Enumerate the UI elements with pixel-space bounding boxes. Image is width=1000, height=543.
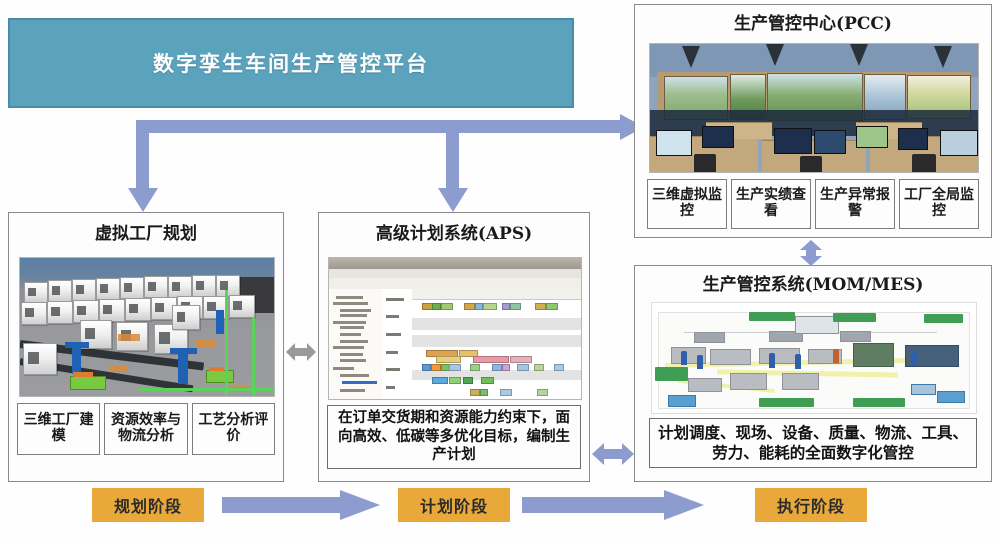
bus-stem-aps xyxy=(446,120,459,190)
subitem-process-analysis-evaluation[interactable]: 工艺分析评价 xyxy=(192,403,275,455)
description-aps-text: 在订单交货期和资源能力约束下，面向高效、低碳等多优化目标，编制生产计划 xyxy=(332,409,576,465)
diagram-canvas: 数字孪生车间生产管控平台 虚拟工厂规划 xyxy=(0,0,1000,543)
stage-arrow-plan-to-execution xyxy=(522,490,704,520)
panel-title-mom-mes: 生产管控系统(MOM/MES) xyxy=(635,276,991,295)
subitem-production-anomaly-alarm[interactable]: 生产异常报警 xyxy=(815,179,895,229)
stage-label-planning[interactable]: 规划阶段 xyxy=(92,488,204,522)
stage-arrow-planning-to-plan xyxy=(222,490,380,520)
subitem-production-performance-view[interactable]: 生产实绩查看 xyxy=(731,179,811,229)
image-3d-factory-layout xyxy=(19,257,275,397)
subitem-resource-efficiency-logistics[interactable]: 资源效率与物流分析 xyxy=(104,403,187,455)
stage-planning-text: 规划阶段 xyxy=(114,493,182,517)
platform-title-banner: 数字孪生车间生产管控平台 xyxy=(8,18,574,108)
description-mom-mes: 计划调度、现场、设备、质量、物流、工具、劳力、能耗的全面数字化管控 xyxy=(649,418,977,468)
arrow-pcc-mom-bidirectional xyxy=(798,240,824,266)
panel-title-virtual-factory: 虚拟工厂规划 xyxy=(9,225,283,244)
platform-title-text: 数字孪生车间生产管控平台 xyxy=(153,48,429,78)
image-control-center-photo xyxy=(649,43,979,173)
arrowhead-to-virtual-factory xyxy=(128,188,158,212)
panel-virtual-factory-planning: 虚拟工厂规划 xyxy=(8,212,284,482)
panel-title-aps: 高级计划系统(APS) xyxy=(319,225,589,244)
panel-aps: 高级计划系统(APS) xyxy=(318,212,590,482)
stage-plan-text: 计划阶段 xyxy=(420,493,488,517)
arrowhead-to-aps xyxy=(438,188,468,212)
description-aps: 在订单交货期和资源能力约束下，面向高效、低碳等多优化目标，编制生产计划 xyxy=(327,405,581,469)
stage-execution-text: 执行阶段 xyxy=(777,493,845,517)
bus-horizontal-line xyxy=(136,120,628,133)
stage-label-plan[interactable]: 计划阶段 xyxy=(398,488,510,522)
stage-label-execution[interactable]: 执行阶段 xyxy=(755,488,867,522)
panel-mom-mes: 生产管控系统(MOM/MES) xyxy=(634,265,992,482)
subitem-factory-global-monitoring[interactable]: 工厂全局监控 xyxy=(899,179,979,229)
panel-title-pcc: 生产管控中心(PCC) xyxy=(635,15,991,34)
subitems-pcc: 三维虚拟监控 生产实绩查看 生产异常报警 工厂全局监控 xyxy=(647,179,979,229)
arrow-virtualfactory-aps-bidirectional xyxy=(286,340,316,364)
subitems-virtual-factory: 三维工厂建模 资源效率与物流分析 工艺分析评价 xyxy=(17,403,275,455)
image-aps-gantt-screenshot xyxy=(328,257,582,400)
image-mes-shopfloor-illustration xyxy=(651,302,977,414)
subitem-3d-factory-modeling[interactable]: 三维工厂建模 xyxy=(17,403,100,455)
bus-stem-virtual-factory xyxy=(136,120,149,190)
arrow-aps-mom-bidirectional xyxy=(592,440,634,468)
subitem-3d-virtual-monitoring[interactable]: 三维虚拟监控 xyxy=(647,179,727,229)
description-mom-mes-text: 计划调度、现场、设备、质量、物流、工具、劳力、能耗的全面数字化管控 xyxy=(654,423,972,463)
panel-pcc: 生产管控中心(PCC) xyxy=(634,4,992,238)
